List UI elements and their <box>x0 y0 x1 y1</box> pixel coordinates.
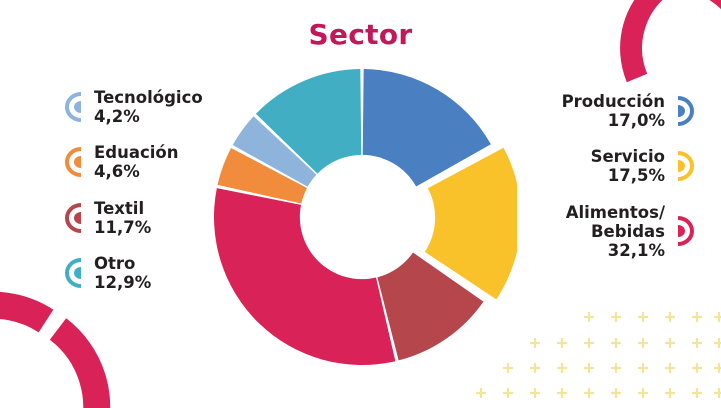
legend-item-otro[interactable]: Otro12,9% <box>60 254 151 292</box>
donut-chart <box>207 62 517 372</box>
donut-slice[interactable] <box>214 188 395 365</box>
donut-swatch-icon <box>60 201 86 235</box>
legend-label-eduacion: Eduación4,6% <box>94 143 178 181</box>
legend-value-alimentos-bebidas: 32,1% <box>566 241 665 260</box>
legend-value-eduacion: 4,6% <box>94 162 178 181</box>
donut-swatch-icon <box>673 149 699 183</box>
legend-label-alimentos-bebidas: Alimentos/ Bebidas32,1% <box>566 203 665 260</box>
donut-swatch-icon <box>60 90 86 124</box>
legend-value-otro: 12,9% <box>94 273 151 292</box>
legend-item-servicio[interactable]: Servicio17,5% <box>591 147 699 185</box>
legend-label-servicio: Servicio17,5% <box>591 147 665 185</box>
legend-item-produccion[interactable]: Producción17,0% <box>562 92 699 130</box>
donut-swatch-icon <box>60 145 86 179</box>
legend-item-tecnologico[interactable]: Tecnológico4,2% <box>60 88 203 126</box>
donut-swatch-icon <box>60 256 86 290</box>
legend-item-alimentos-bebidas[interactable]: Alimentos/ Bebidas32,1% <box>566 203 699 260</box>
legend-label-tecnologico: Tecnológico4,2% <box>94 88 203 126</box>
legend-value-produccion: 17,0% <box>562 111 665 130</box>
legend-label-otro: Otro12,9% <box>94 254 151 292</box>
legend-item-textil[interactable]: Textil11,7% <box>60 199 151 237</box>
legend-right: Producción17,0% Servicio17,5% Alimentos/… <box>562 92 699 260</box>
legend-value-tecnologico: 4,2% <box>94 107 203 126</box>
chart-title: Sector <box>0 18 721 51</box>
legend-left: Tecnológico4,2% Eduación4,6% Textil11,7% <box>60 88 203 292</box>
legend-value-textil: 11,7% <box>94 218 151 237</box>
legend-label-textil: Textil11,7% <box>94 199 151 237</box>
legend-item-eduacion[interactable]: Eduación4,6% <box>60 143 178 181</box>
donut-swatch-icon <box>673 94 699 128</box>
legend-label-produccion: Producción17,0% <box>562 92 665 130</box>
donut-swatch-icon <box>673 214 699 248</box>
chart-page: Sector Tecnológico4,2% Eduación4,6% <box>0 0 721 408</box>
legend-value-servicio: 17,5% <box>591 166 665 185</box>
bottom-left-arc-decoration <box>0 285 117 408</box>
